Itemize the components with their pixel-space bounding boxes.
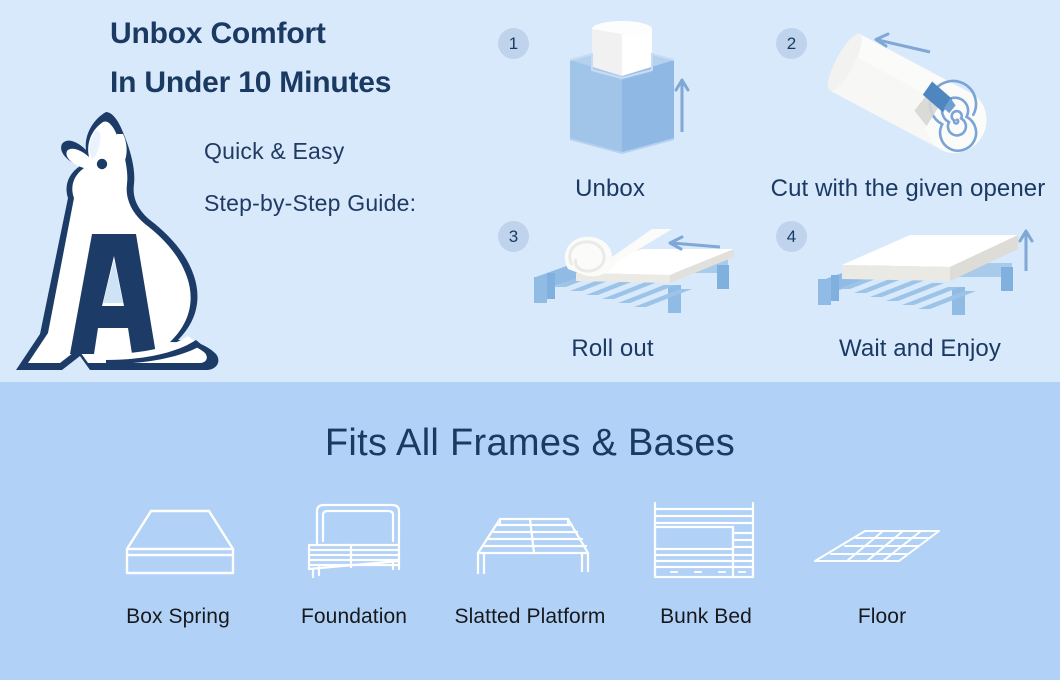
base-item-floor: Floor <box>794 492 970 629</box>
base-label: Foundation <box>301 605 407 629</box>
bunk-bed-icon <box>641 492 771 597</box>
headline-line-1: Unbox Comfort <box>110 10 490 59</box>
step-2-caption: Cut with the given opener <box>738 175 1060 203</box>
step-1-number-badge: 1 <box>498 28 529 59</box>
step-1-caption: Unbox <box>490 175 730 203</box>
page-title: Unbox Comfort In Under 10 Minutes <box>110 10 490 107</box>
bases-list: Box Spring <box>0 492 1060 662</box>
mattress-rolling-onto-slats-icon <box>520 215 750 340</box>
base-item-bunk-bed: Bunk Bed <box>618 492 794 629</box>
step-4-caption: Wait and Enjoy <box>780 335 1060 363</box>
expanded-mattress-on-slats-icon <box>806 219 1036 344</box>
floor-grid-icon <box>807 492 957 597</box>
box-spring-icon <box>113 492 243 597</box>
base-item-slatted-platform: Slatted Platform <box>442 492 618 629</box>
section-title: Fits All Frames & Bases <box>0 422 1060 465</box>
slatted-platform-icon <box>460 492 600 597</box>
box-with-mattress-icon <box>552 20 692 175</box>
base-item-box-spring: Box Spring <box>90 492 266 629</box>
base-label: Floor <box>858 605 906 629</box>
step-1: 1 <box>490 20 750 205</box>
unboxing-steps-panel: Unbox Comfort In Under 10 Minutes Quick … <box>0 0 1060 382</box>
step-4: 4 <box>760 215 1060 375</box>
step-2-number-badge: 2 <box>776 28 807 59</box>
base-label: Box Spring <box>126 605 230 629</box>
step-3: 3 <box>490 215 750 375</box>
base-label: Bunk Bed <box>660 605 752 629</box>
step-2: 2 <box>760 20 1060 205</box>
foundation-bed-icon <box>289 492 419 597</box>
kangaroo-letter-a-logo <box>10 104 250 372</box>
headline-line-2: In Under 10 Minutes <box>110 59 490 108</box>
base-item-foundation: Foundation <box>266 492 442 629</box>
rolled-mattress-with-cutter-icon <box>812 28 1012 173</box>
infographic-page: Unbox Comfort In Under 10 Minutes Quick … <box>0 0 1060 680</box>
step-3-caption: Roll out <box>490 335 735 363</box>
base-label: Slatted Platform <box>455 605 606 629</box>
step-4-number-badge: 4 <box>776 221 807 252</box>
fits-all-frames-panel: Fits All Frames & Bases Box Spring <box>0 382 1060 680</box>
